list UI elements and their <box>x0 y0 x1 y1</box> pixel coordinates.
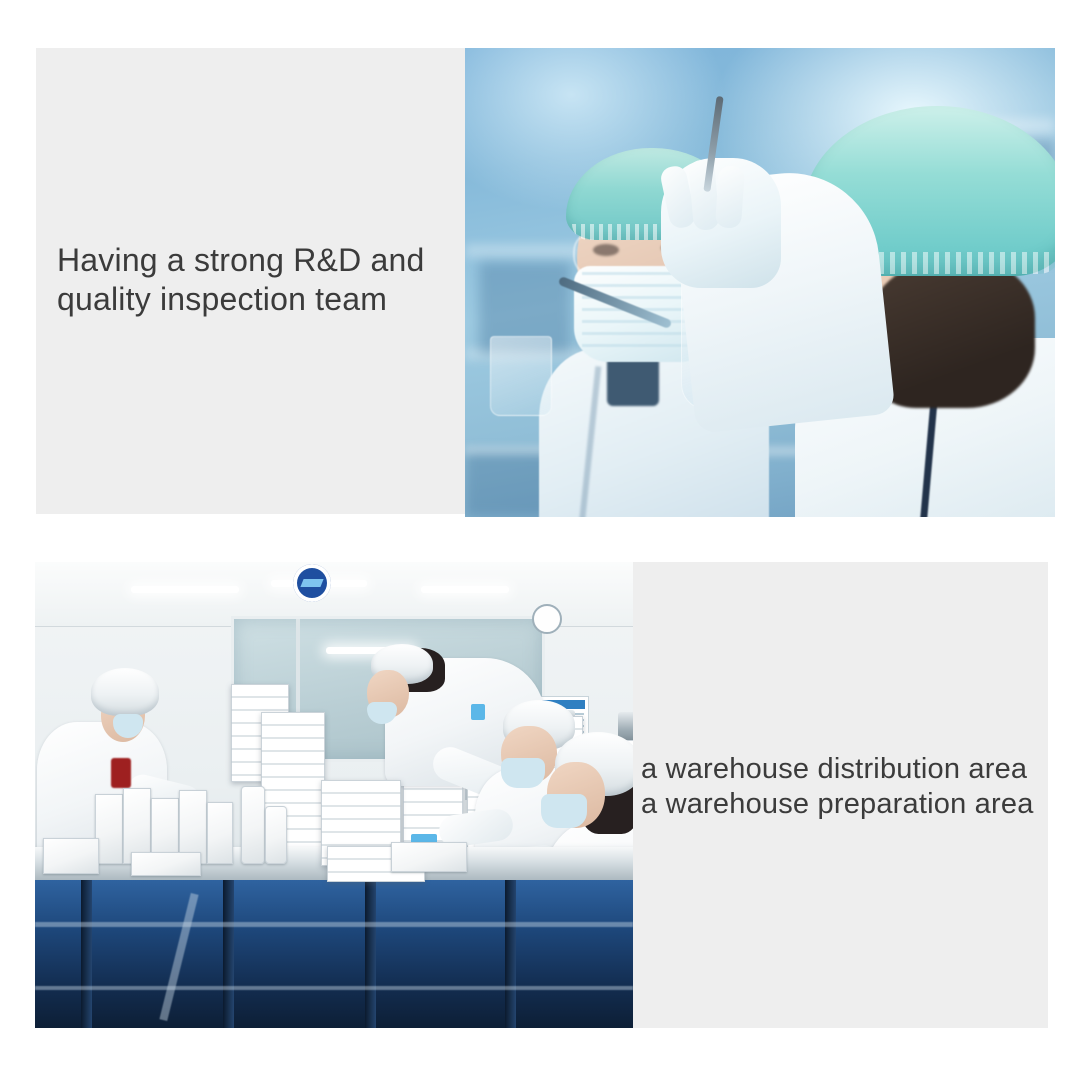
worker-bending-badge <box>471 704 485 720</box>
carton-tray-c <box>43 838 99 874</box>
work-table-leg-d <box>505 880 516 1028</box>
carton-bottle-b <box>265 806 287 864</box>
worker-middle-mask <box>501 758 545 788</box>
bottom-caption-text: a warehouse distribution area a warehous… <box>641 752 1034 822</box>
work-table-leg-b <box>223 880 234 1028</box>
work-table-base <box>35 880 633 1028</box>
work-table-leg-c <box>365 880 376 1028</box>
page-root: Having a strong R&D and quality inspecti… <box>0 0 1080 1080</box>
carton-tray-a <box>391 842 467 872</box>
ceiling-light-a <box>131 586 239 593</box>
work-table-rail-a <box>35 922 633 927</box>
carton-on-table-a <box>95 794 123 864</box>
worker-right-mask <box>541 794 587 828</box>
worker-bending-red-trim <box>111 758 131 788</box>
wall-round-sign-icon <box>293 564 331 602</box>
carton-tray-b <box>131 852 201 876</box>
warehouse-packaging-photo <box>35 562 633 1028</box>
lab-finger-c <box>715 165 745 229</box>
top-caption-text: Having a strong R&D and quality inspecti… <box>57 241 424 319</box>
carton-bottle-a <box>241 786 265 864</box>
lab-quality-inspection-photo <box>465 48 1055 517</box>
wall-clock-icon <box>532 604 562 634</box>
work-table-rail-b <box>35 986 633 990</box>
ceiling-light-c <box>421 586 509 593</box>
worker-left-cap <box>91 668 159 716</box>
lab-beaker <box>490 336 552 416</box>
carton-on-table-e <box>207 802 233 864</box>
work-table-leg-a <box>81 880 92 1028</box>
